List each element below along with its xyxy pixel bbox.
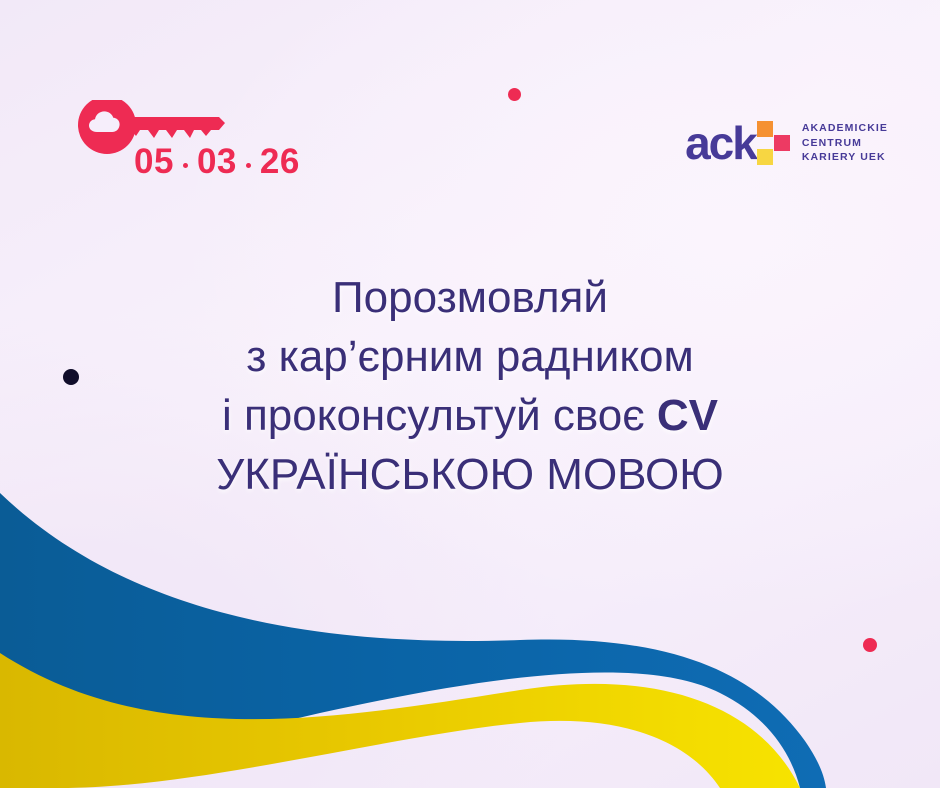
pink-square-icon	[774, 135, 790, 151]
orange-square-icon	[757, 121, 773, 137]
date-year: 26	[260, 142, 300, 182]
ack-subtitle-line-2: CENTRUM	[802, 137, 862, 149]
ukrainian-flag-wave	[0, 488, 940, 788]
date-separator-1	[183, 163, 188, 168]
pink-dot-top-icon	[508, 88, 521, 101]
date-separator-2	[246, 163, 251, 168]
pink-dot-right-icon	[863, 638, 877, 652]
headline-cv-emphasis: CV	[657, 391, 718, 440]
yellow-square-icon	[757, 149, 773, 165]
headline-line-4: УКРАЇНСЬКОЮ МОВОЮ	[0, 445, 940, 504]
date-text: 05 03 26	[134, 142, 300, 182]
ack-logo: ack AKADEMICKIE CENTRUM KARIERY UEK	[685, 113, 888, 173]
ack-subtitle-line-3: KARIERY UEK	[802, 151, 886, 163]
ack-logo-subtitle: AKADEMICKIE CENTRUM KARIERY UEK	[802, 121, 888, 164]
ack-wordmark: ack	[685, 120, 756, 166]
headline-line-3: і проконсультуй своє CV	[0, 386, 940, 445]
date-month: 03	[197, 142, 237, 182]
headline: Порозмовляй з кар’єрним радником і проко…	[0, 268, 940, 504]
ack-logo-mark	[757, 120, 791, 166]
dark-dot-left-icon	[63, 369, 79, 385]
headline-line-1: Порозмовляй	[0, 268, 940, 327]
headline-line-2: з кар’єрним радником	[0, 327, 940, 386]
ack-subtitle-line-1: AKADEMICKIE	[802, 122, 888, 134]
headline-line-3-text: і проконсультуй своє	[222, 391, 657, 440]
date-day: 05	[134, 142, 174, 182]
poster-canvas: 05 03 26 ack AKADEMICKIE CENTRUM KARIERY…	[0, 0, 940, 788]
event-date-badge: 05 03 26	[78, 100, 398, 200]
